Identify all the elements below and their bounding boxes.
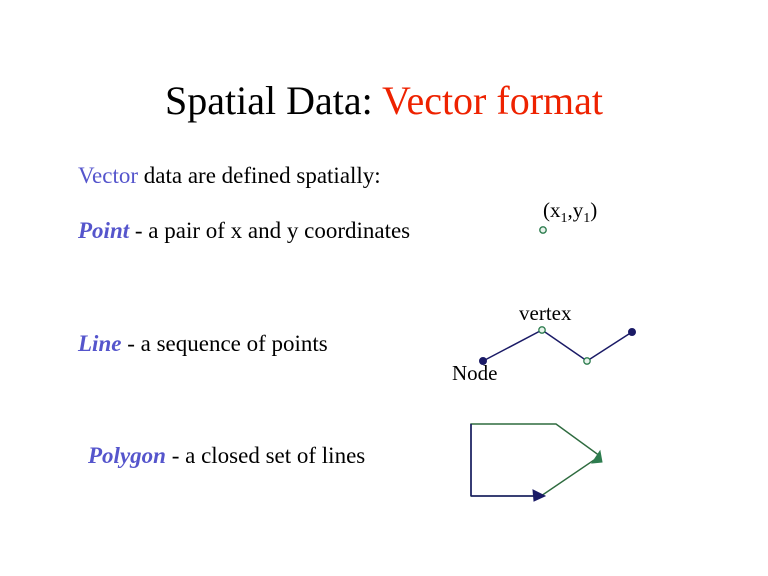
slide-canvas: Spatial Data: Vector format Vector data … [0,0,768,576]
line-end-node-marker-icon [629,329,636,336]
point-marker-icon [540,227,546,233]
polygon-arrow-bottom-icon [533,490,545,501]
polygon-shape [471,424,600,496]
line-node-marker-icon [480,358,487,365]
line-vertex-marker-2-icon [584,358,590,364]
polygon-arrow-right-icon [592,451,602,463]
vector-diagram [0,0,768,576]
polyline-shape [483,330,632,361]
line-vertex-marker-1-icon [539,327,545,333]
